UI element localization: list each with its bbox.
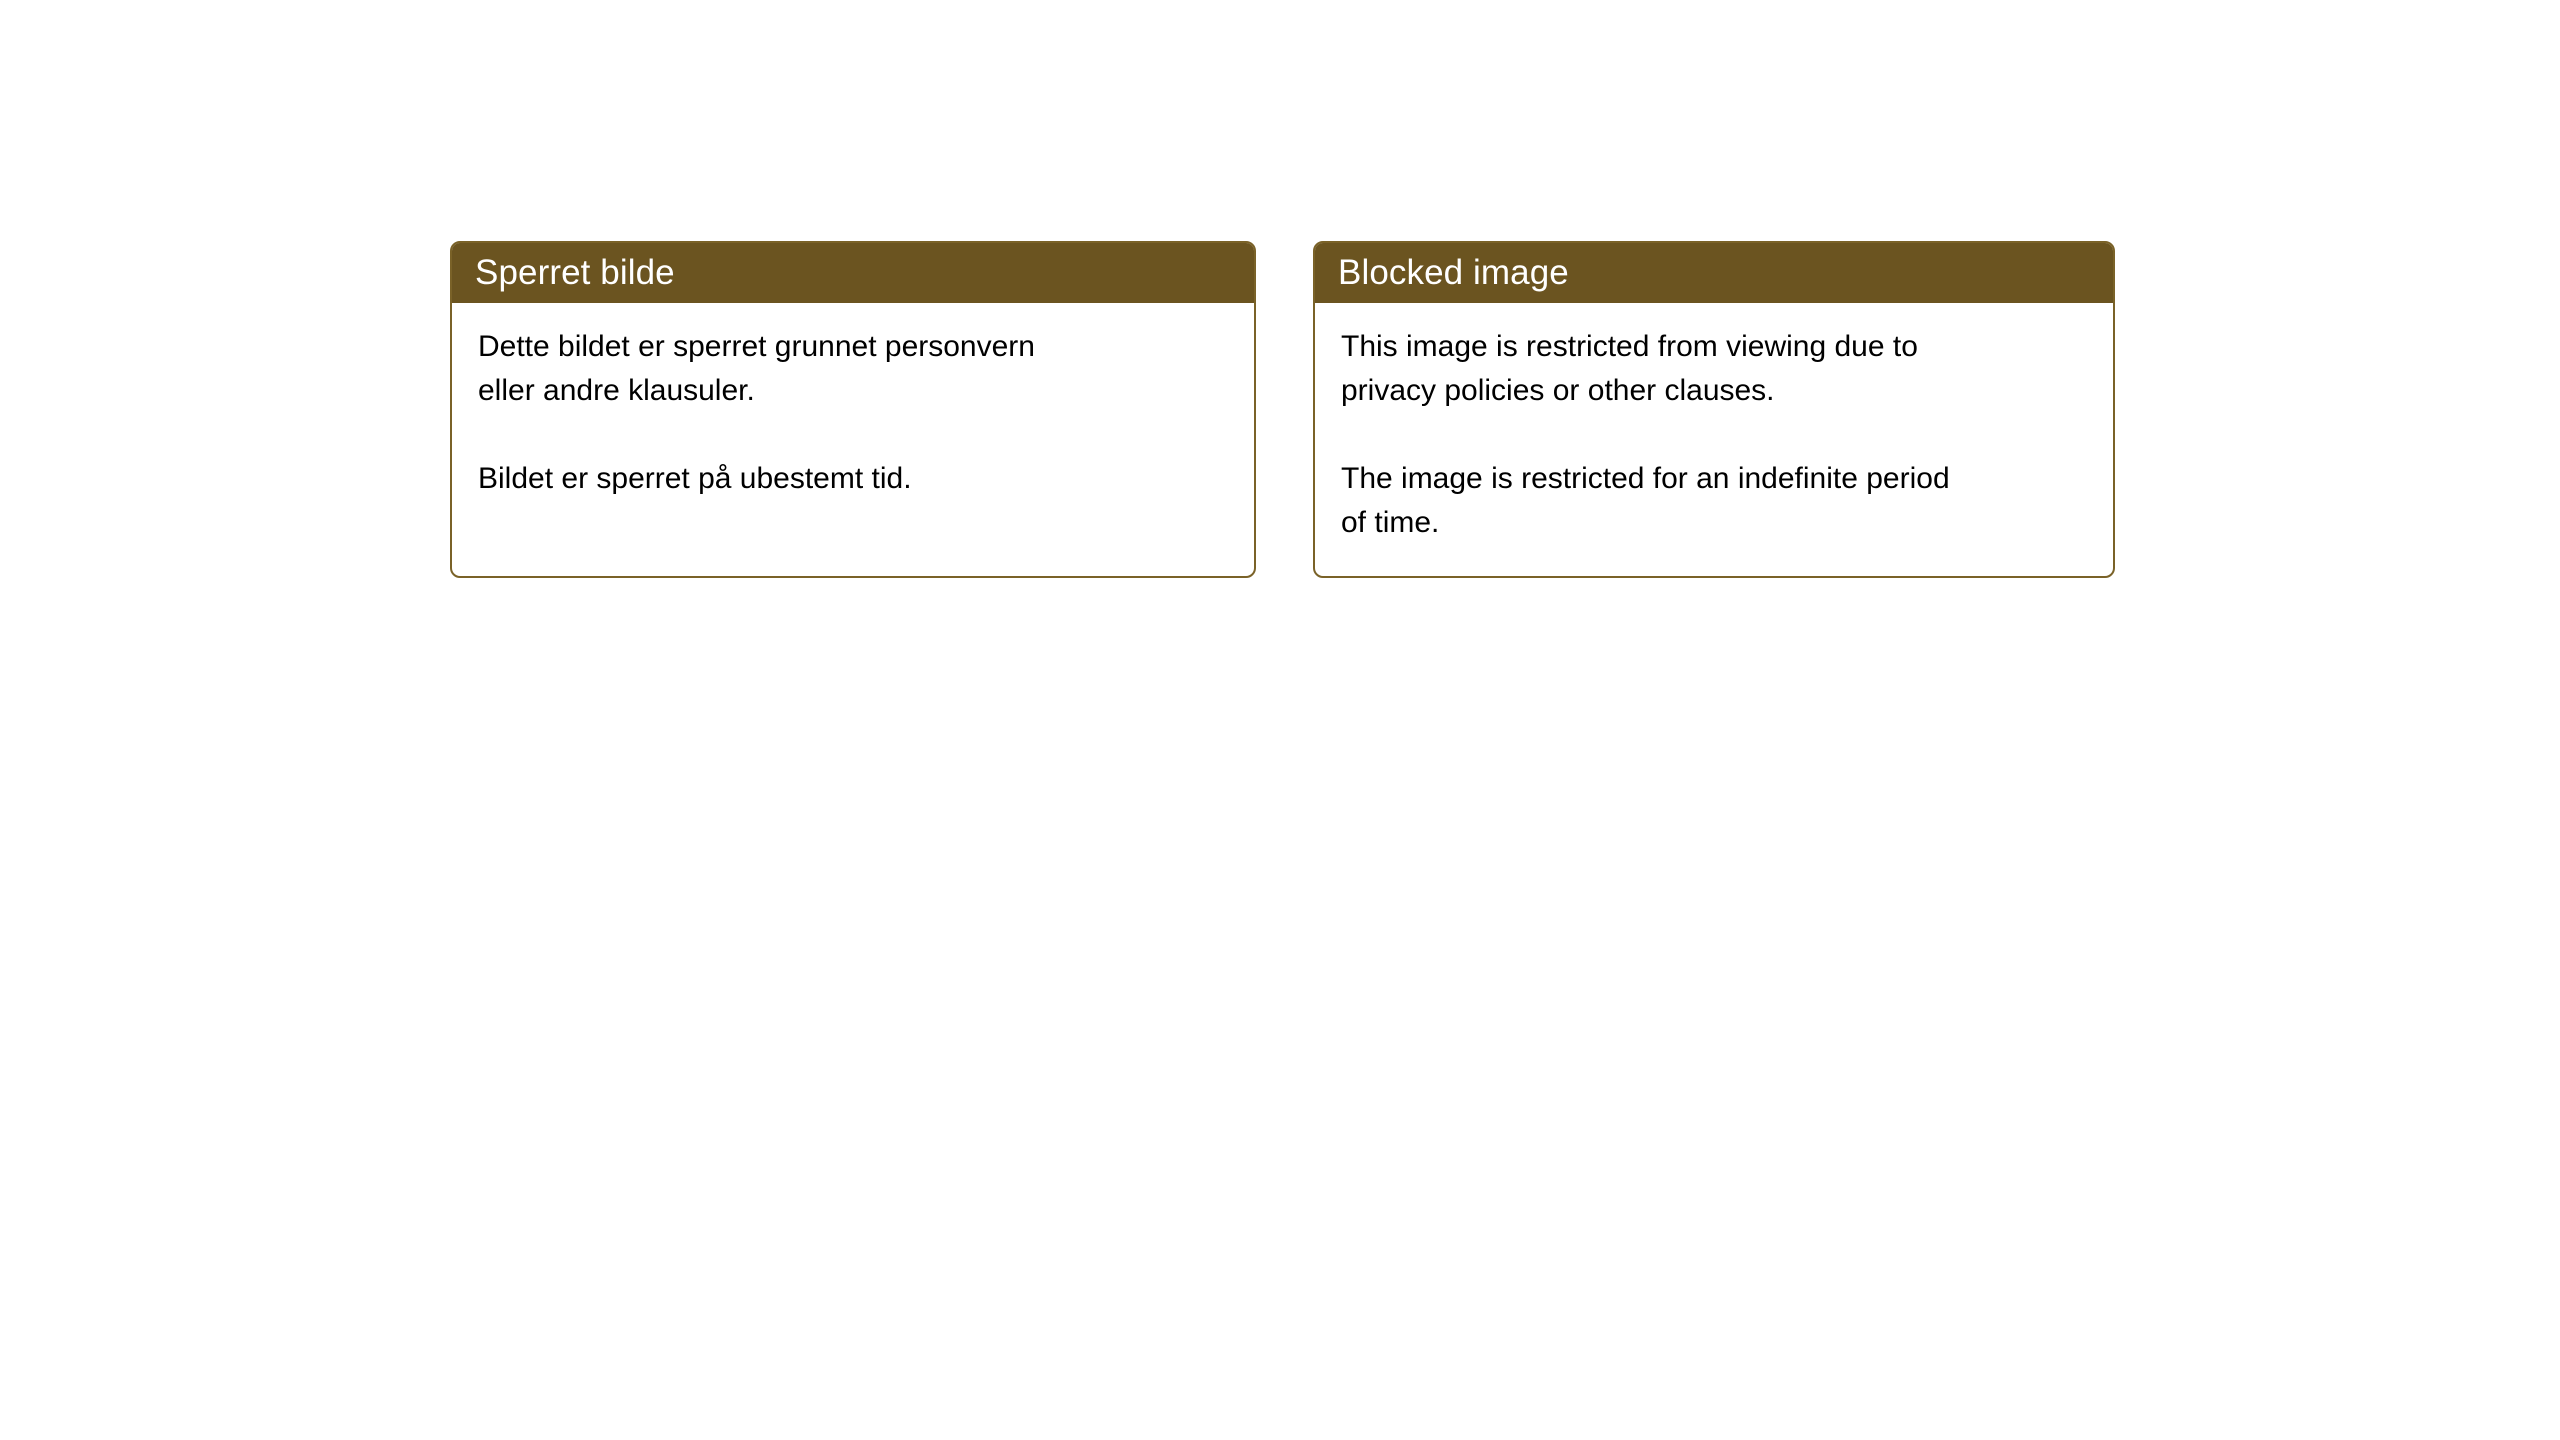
page-canvas: Sperret bilde Dette bildet er sperret gr… [0,0,2560,1440]
card-header-english: Blocked image [1313,241,2115,303]
card-paragraph-primary-norwegian: Dette bildet er sperret grunnet personve… [478,325,1228,413]
card-body-norwegian: Dette bildet er sperret grunnet personve… [452,303,1254,501]
card-paragraph-primary-english: This image is restricted from viewing du… [1341,325,2087,413]
card-title-norwegian: Sperret bilde [475,255,675,290]
card-title-english: Blocked image [1338,255,1569,290]
card-header-norwegian: Sperret bilde [450,241,1256,303]
paragraph-spacer [1341,413,2087,457]
card-body-english: This image is restricted from viewing du… [1315,303,2113,545]
paragraph-spacer [478,413,1228,457]
card-paragraph-secondary-english: The image is restricted for an indefinit… [1341,457,2087,545]
card-paragraph-secondary-norwegian: Bildet er sperret på ubestemt tid. [478,457,1228,501]
blocked-image-card-norwegian: Sperret bilde Dette bildet er sperret gr… [450,241,1256,578]
blocked-image-card-english: Blocked image This image is restricted f… [1313,241,2115,578]
